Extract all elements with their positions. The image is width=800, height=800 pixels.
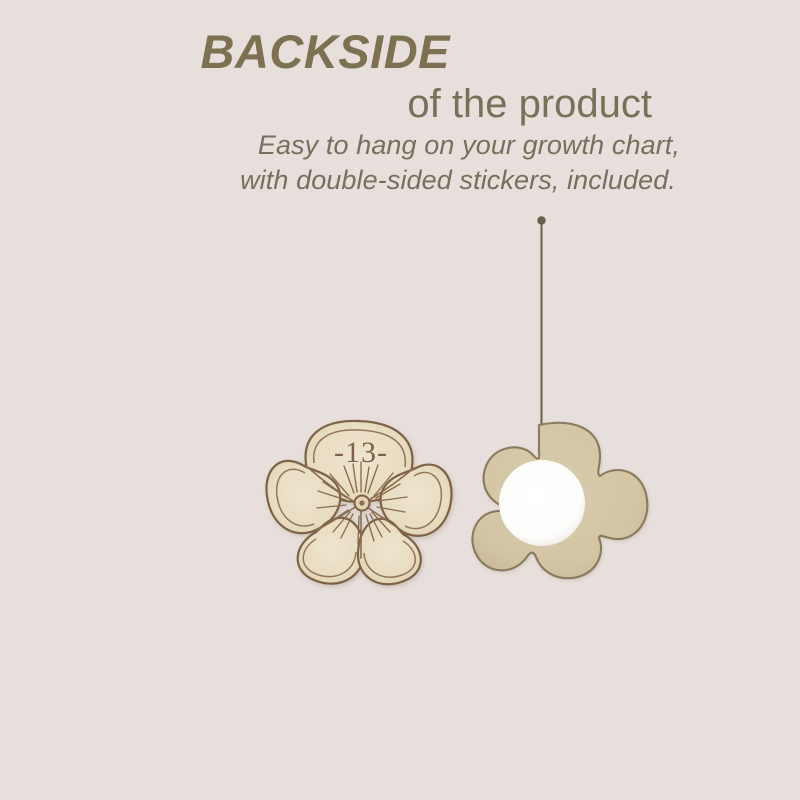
back-flower: [472, 423, 647, 578]
back-flower-sticker: [499, 460, 585, 546]
front-flower: -13-: [266, 421, 451, 584]
hanging-pin: [537, 216, 545, 425]
artwork-stage: -13-: [0, 0, 800, 800]
product-promo-card: BACKSIDE of the product Easy to hang on …: [0, 0, 800, 800]
hanging-pin-knot: [537, 216, 545, 224]
front-flower-engraved-label: -13-: [334, 436, 388, 469]
front-flower-center-pip: [359, 500, 364, 505]
